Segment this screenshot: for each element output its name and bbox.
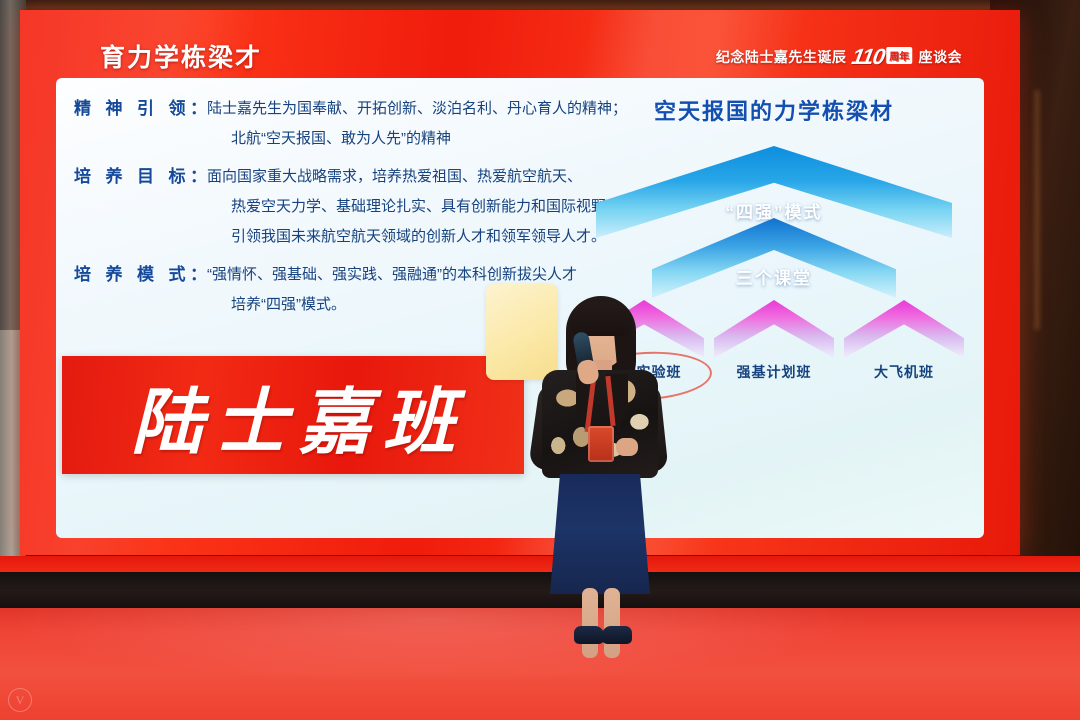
chevron-tier-middle: 三个课堂 — [652, 218, 896, 298]
commemoration-text: 纪念陆士嘉先生诞辰 — [716, 47, 847, 67]
presenter — [520, 296, 680, 646]
chevron-base-2: 强基计划班 — [714, 300, 834, 358]
diagram-title: 空天报国的力学栋梁材 — [574, 94, 974, 126]
presenter-hair-front — [570, 302, 632, 336]
presenter-leg-left — [582, 588, 598, 658]
slide-header-right: 纪念陆士嘉先生诞辰 110周年 座谈会 — [716, 44, 962, 70]
chevron-shape — [714, 300, 834, 358]
presenter-leg-right — [604, 588, 620, 658]
slide-title: 育力学栋梁才 — [100, 38, 262, 74]
anniversary-logo: 110周年 — [850, 44, 915, 70]
photo-scene: 育力学栋梁才 纪念陆士嘉先生诞辰 110周年 座谈会 精神引领 ： 陆士嘉先生为… — [0, 0, 1080, 720]
anniversary-number: 110 — [850, 44, 886, 69]
chevron-label: 三个课堂 — [652, 264, 896, 289]
calligraphy-banner: 陆士嘉班 — [62, 356, 524, 474]
forum-text: 座谈会 — [919, 47, 963, 67]
chevron-label: 大飞机班 — [844, 362, 964, 382]
presenter-hand-right — [616, 438, 638, 456]
chevron-shape — [844, 300, 964, 358]
text-block-label: 培养模式 — [74, 260, 190, 285]
text-block-colon: ： — [190, 94, 207, 119]
watermark-badge: V — [8, 688, 32, 712]
presenter-shoe-left — [574, 626, 604, 644]
presenter-skirt — [550, 474, 650, 594]
anniversary-unit: 周年 — [887, 47, 913, 64]
text-block-colon: ： — [190, 260, 207, 285]
presenter-shoe-right — [602, 626, 632, 644]
calligraphy-text: 陆士嘉班 — [62, 356, 524, 474]
presenter-badge — [588, 426, 614, 462]
text-block-colon: ： — [190, 162, 207, 187]
chevron-base-3: 大飞机班 — [844, 300, 964, 358]
chevron-label: 强基计划班 — [714, 362, 834, 382]
text-block-label: 精神引领 — [74, 94, 190, 119]
text-block-label: 培养目标 — [74, 162, 190, 187]
